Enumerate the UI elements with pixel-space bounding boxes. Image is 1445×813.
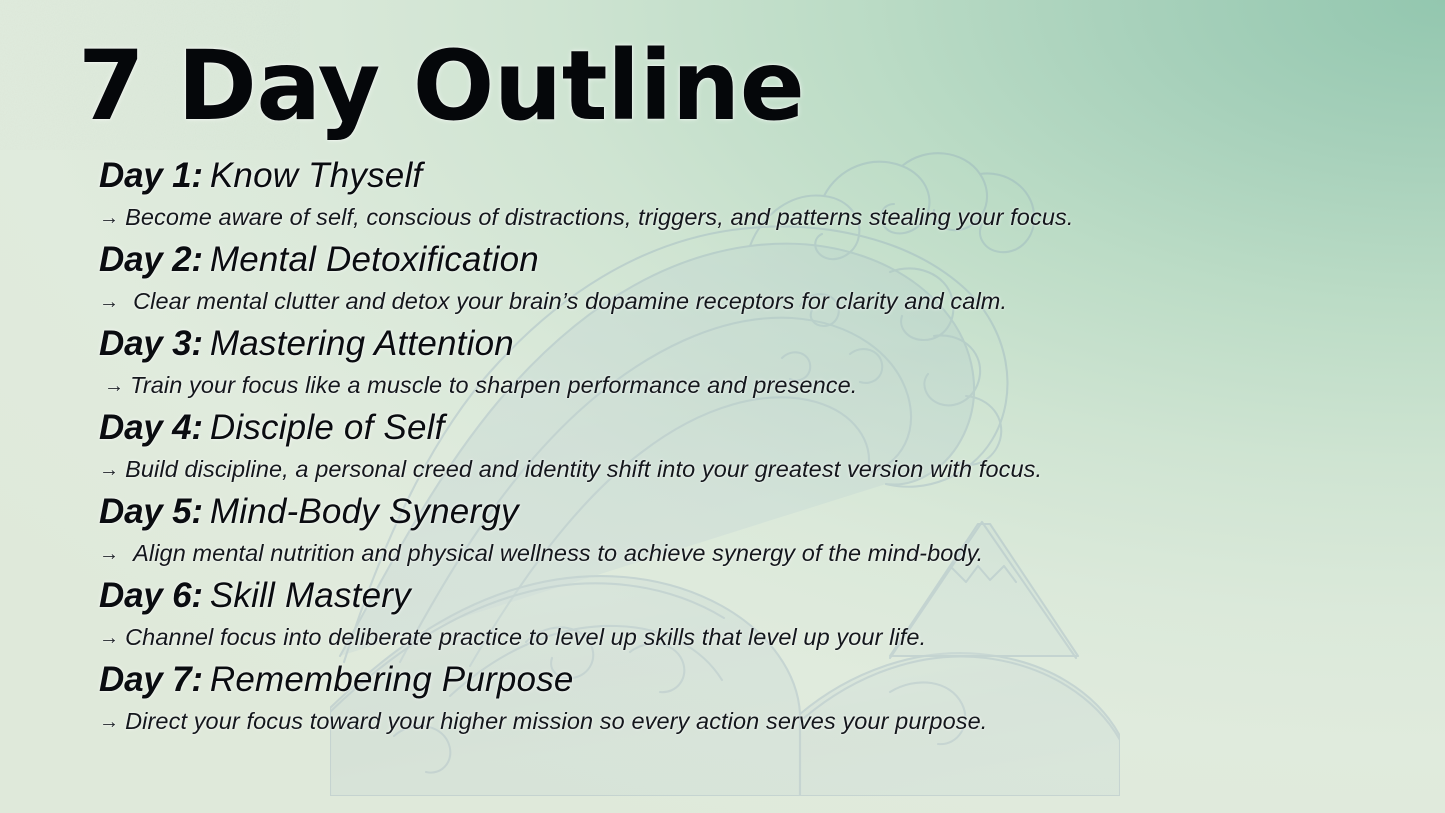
day-label: Day 4: [99,408,203,447]
day-description: →Build discipline, a personal creed and … [99,454,1042,485]
day-description-text: Train your focus like a muscle to sharpe… [130,372,857,398]
list-item: Day 6:Skill Mastery →Channel focus into … [0,575,1445,659]
day-topic: Skill Mastery [210,576,411,615]
day-heading: Day 7:Remembering Purpose [99,659,574,701]
day-description: →Clear mental clutter and detox your bra… [99,286,1007,317]
day-description-text: Align mental nutrition and physical well… [133,540,983,566]
day-description-text: Clear mental clutter and detox your brai… [133,288,1007,314]
list-item: Day 1:Know Thyself →Become aware of self… [0,155,1445,239]
day-heading: Day 5:Mind-Body Synergy [99,491,519,533]
day-description: →Train your focus like a muscle to sharp… [104,370,857,401]
list-item: Day 7:Remembering Purpose →Direct your f… [0,659,1445,743]
arrow-right-icon: → [99,287,119,317]
day-description-text: Direct your focus toward your higher mis… [125,708,987,734]
day-label: Day 2: [99,240,203,279]
arrow-right-icon: → [99,539,119,569]
day-heading: Day 6:Skill Mastery [99,575,411,617]
day-heading: Day 4:Disciple of Self [99,407,445,449]
list-item: Day 3:Mastering Attention →Train your fo… [0,323,1445,407]
day-topic: Mastering Attention [210,324,514,363]
slide-canvas: 7 Day Outline Day 1:Know Thyself →Become… [0,0,1445,813]
day-description: →Direct your focus toward your higher mi… [99,706,987,737]
slide-content: 7 Day Outline Day 1:Know Thyself →Become… [0,0,1445,813]
day-label: Day 7: [99,660,203,699]
day-topic: Mental Detoxification [210,240,539,279]
day-heading: Day 3:Mastering Attention [99,323,514,365]
day-description-text: Channel focus into deliberate practice t… [125,624,926,650]
list-item: Day 2:Mental Detoxification →Clear menta… [0,239,1445,323]
day-description: →Channel focus into deliberate practice … [99,622,926,653]
list-item: Day 5:Mind-Body Synergy →Align mental nu… [0,491,1445,575]
day-description: →Align mental nutrition and physical wel… [99,538,983,569]
arrow-right-icon: → [99,203,119,233]
day-description-text: Build discipline, a personal creed and i… [125,456,1042,482]
day-label: Day 1: [99,156,203,195]
page-title: 7 Day Outline [78,38,804,134]
day-heading: Day 2:Mental Detoxification [99,239,539,281]
arrow-right-icon: → [99,623,119,653]
day-label: Day 5: [99,492,203,531]
day-label: Day 3: [99,324,203,363]
day-label: Day 6: [99,576,203,615]
day-description-text: Become aware of self, conscious of distr… [125,204,1073,230]
day-topic: Mind-Body Synergy [210,492,519,531]
list-item: Day 4:Disciple of Self →Build discipline… [0,407,1445,491]
arrow-right-icon: → [99,707,119,737]
day-topic: Know Thyself [210,156,423,195]
day-topic: Remembering Purpose [210,660,574,699]
day-topic: Disciple of Self [210,408,445,447]
day-description: →Become aware of self, conscious of dist… [99,202,1073,233]
day-heading: Day 1:Know Thyself [99,155,422,197]
day-outline-list: Day 1:Know Thyself →Become aware of self… [0,155,1445,743]
arrow-right-icon: → [99,455,119,485]
arrow-right-icon: → [104,371,124,401]
